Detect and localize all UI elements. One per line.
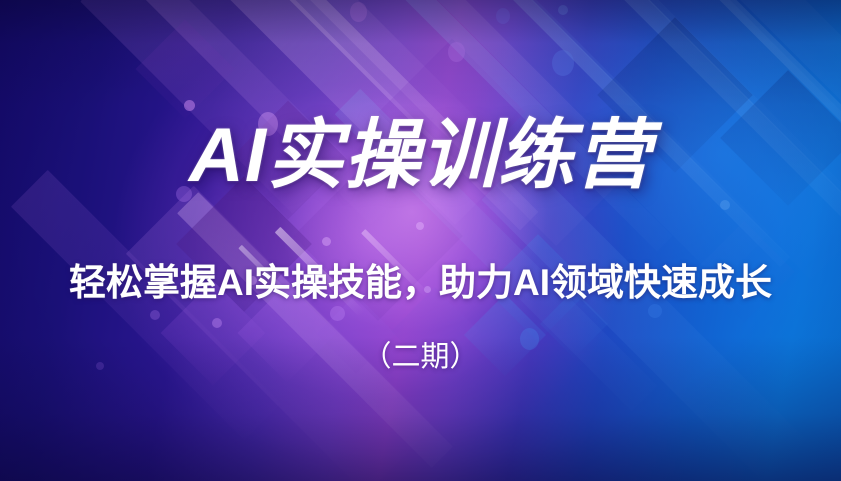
banner-title: AI实操训练营	[0, 118, 841, 194]
banner-title-text: AI实操训练营	[189, 113, 652, 198]
promo-banner: AI实操训练营 轻松掌握AI实操技能，助力AI领域快速成长 （二期）	[0, 0, 841, 481]
banner-content: AI实操训练营 轻松掌握AI实操技能，助力AI领域快速成长 （二期）	[0, 0, 841, 481]
banner-edition-label: （二期）	[0, 340, 841, 375]
banner-subtitle: 轻松掌握AI实操技能，助力AI领域快速成长	[0, 263, 841, 304]
